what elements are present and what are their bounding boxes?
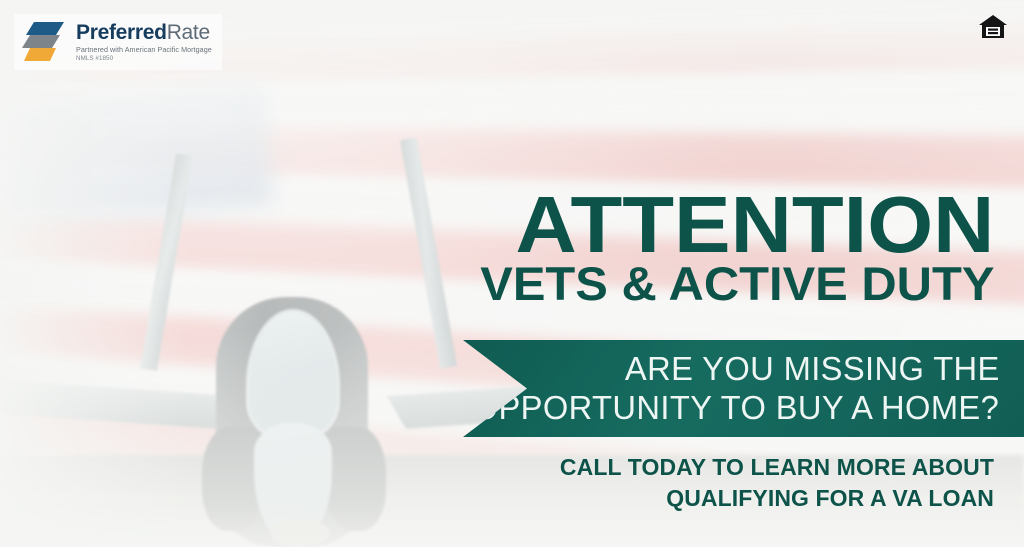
equal-housing-opportunity-icon [976, 10, 1010, 44]
preferred-rate-logo-icon [20, 19, 68, 65]
headline-primary: ATTENTION [470, 192, 994, 258]
preferred-rate-logo[interactable]: PreferredRate Partnered with American Pa… [14, 14, 222, 70]
advertisement-canvas: PreferredRate Partnered with American Pa… [0, 0, 1024, 547]
logo-text-block: PreferredRate Partnered with American Pa… [76, 22, 212, 61]
logo-wordmark: PreferredRate [76, 22, 212, 43]
headline-secondary: VETS & ACTIVE DUTY [480, 262, 994, 305]
question-banner: ARE YOU MISSING THE OPPORTUNITY TO BUY A… [463, 340, 1024, 437]
cta-line-2: QUALIFYING FOR A VA LOAN [560, 483, 994, 514]
banner-line-1: ARE YOU MISSING THE [625, 350, 1000, 389]
logo-name-bold: Preferred [76, 21, 167, 44]
banner-line-2: OPPORTUNITY TO BUY A HOME? [473, 389, 1000, 428]
logo-tagline: Partnered with American Pacific Mortgage [76, 46, 212, 53]
call-to-action-block: CALL TODAY TO LEARN MORE ABOUT QUALIFYIN… [560, 452, 994, 514]
logo-nmls-number: NMLS #1850 [76, 56, 212, 62]
cta-line-1: CALL TODAY TO LEARN MORE ABOUT [560, 452, 994, 483]
logo-name-light: Rate [167, 21, 210, 44]
headline-block: ATTENTION VETS & ACTIVE DUTY [500, 192, 994, 305]
